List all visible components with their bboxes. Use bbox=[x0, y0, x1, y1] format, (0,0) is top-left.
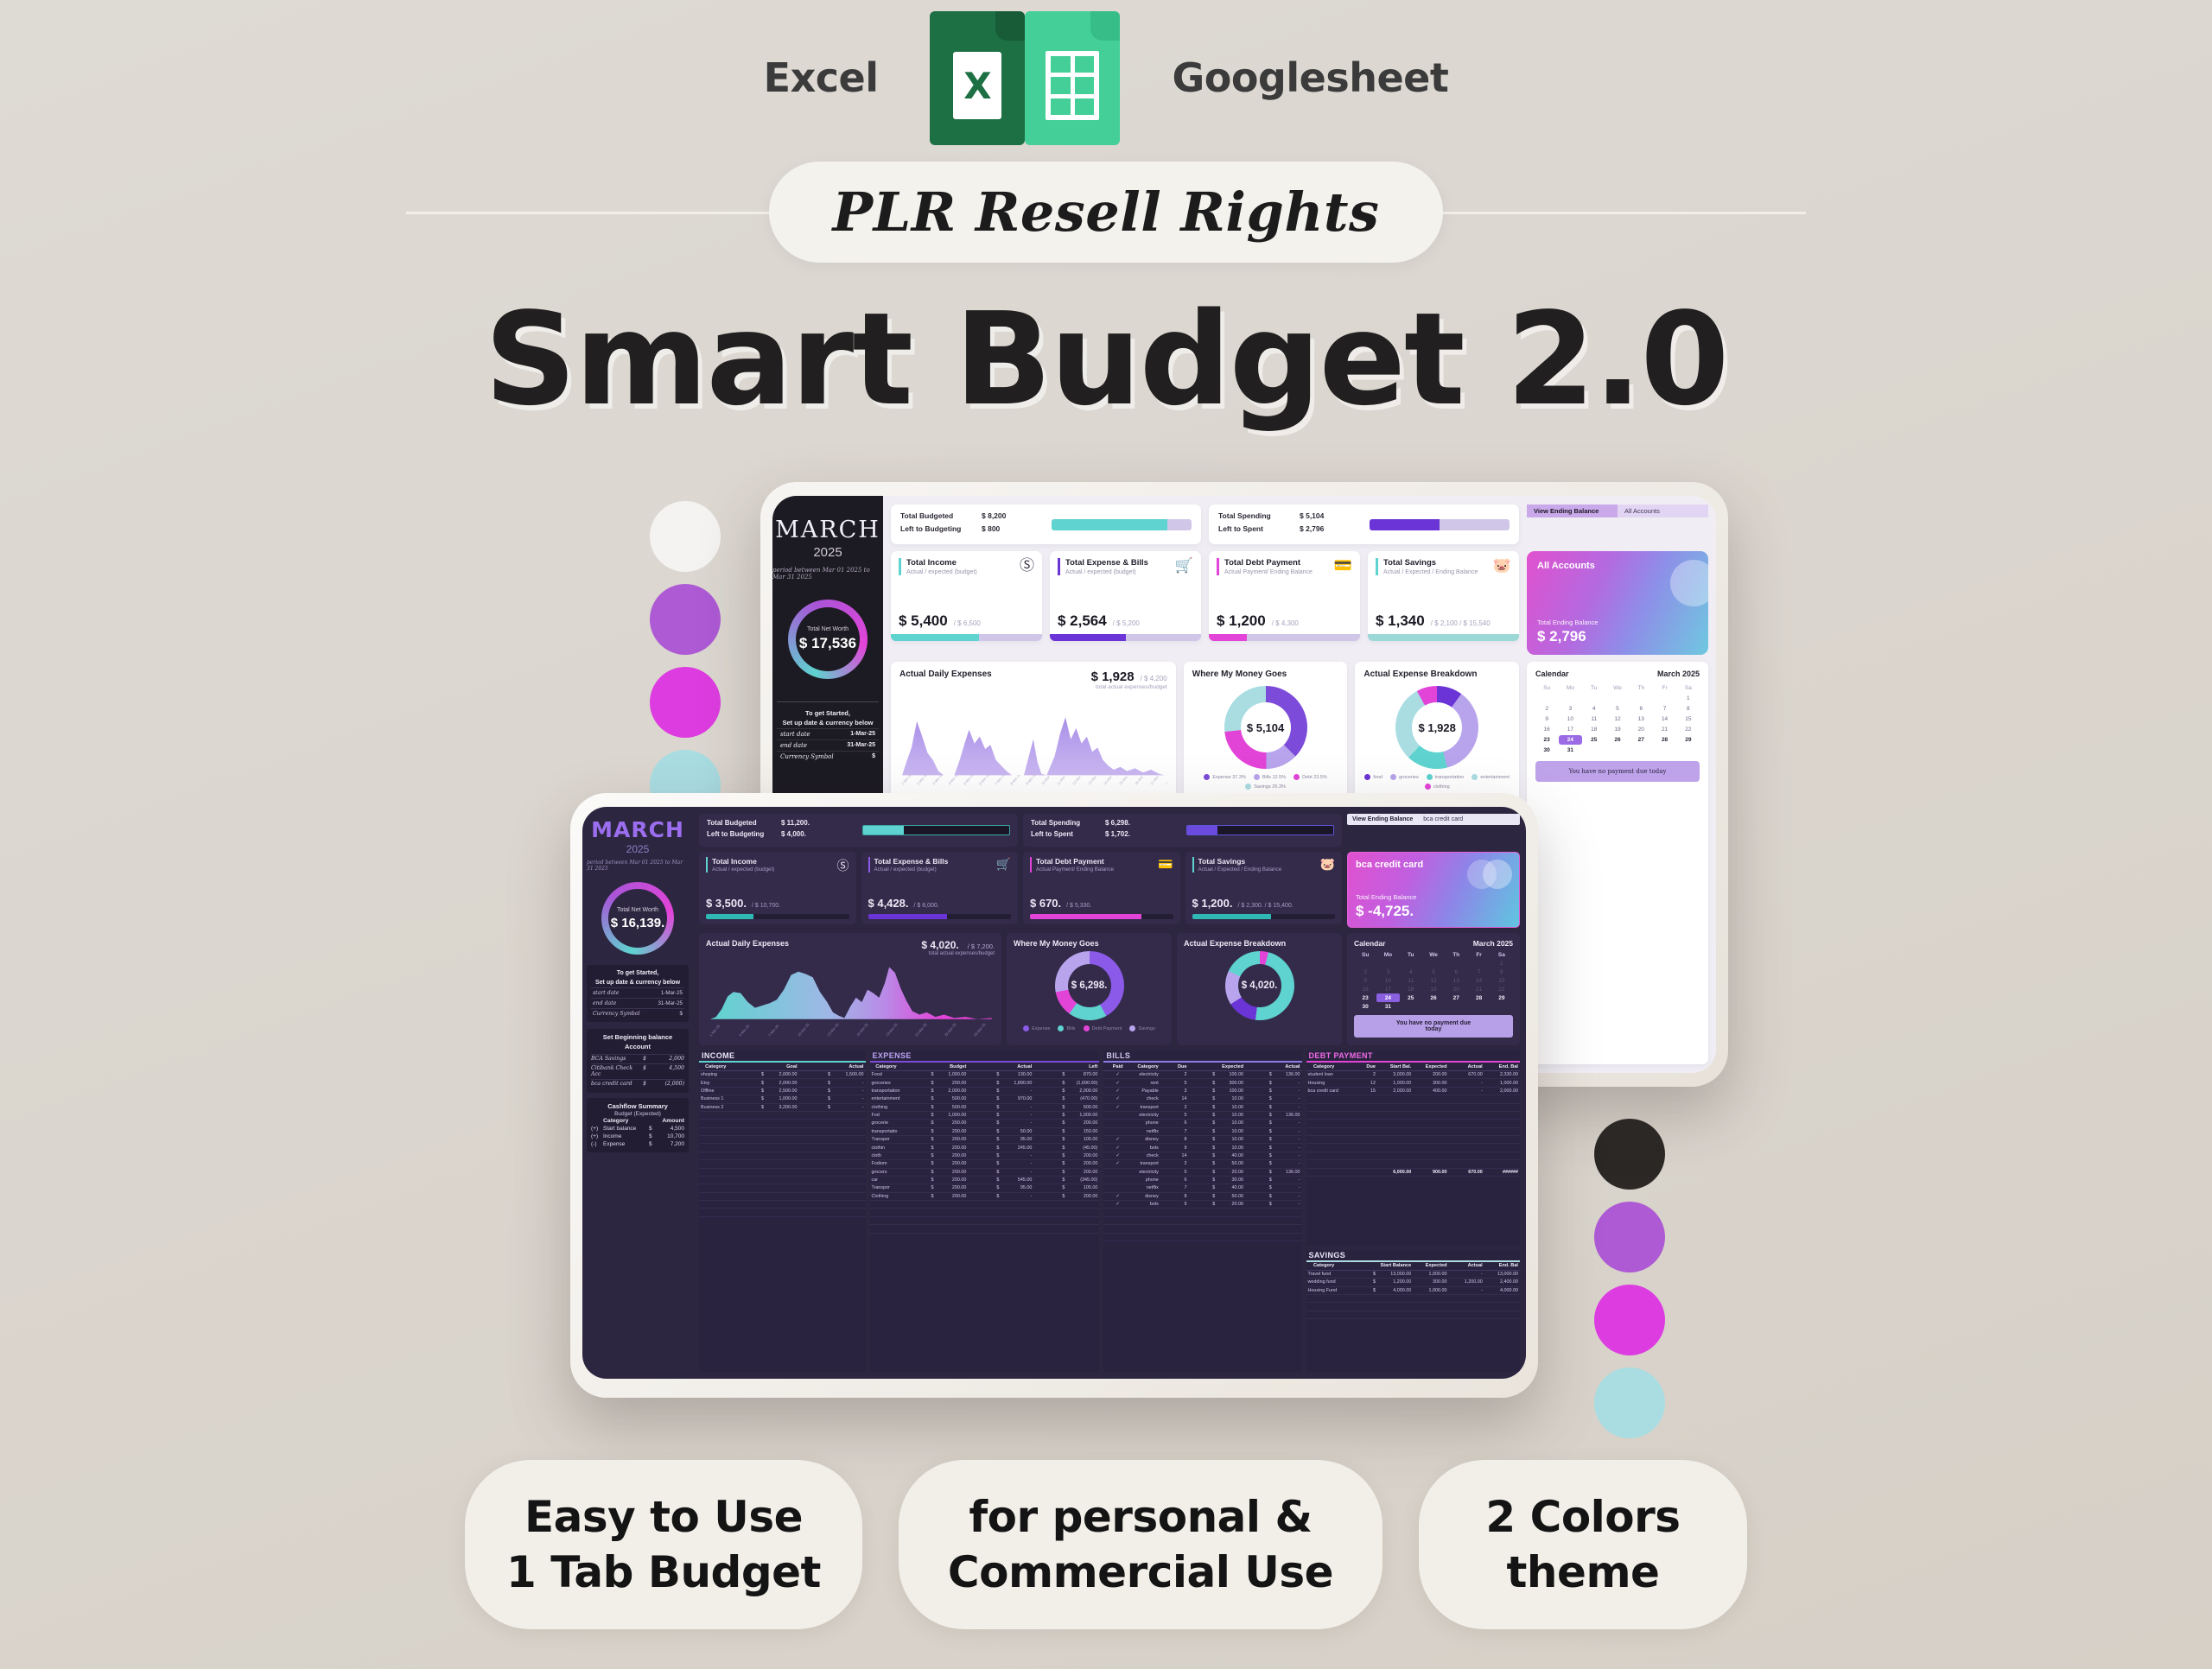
calendar-day-7[interactable]: 7 bbox=[1653, 704, 1675, 714]
table-cell: 1,000.00 bbox=[1377, 1079, 1413, 1087]
table-row[interactable]: ✓disney8$50.00$- bbox=[1103, 1192, 1301, 1200]
table-cell: netflix bbox=[1132, 1184, 1160, 1192]
table-row[interactable]: car$200.00$545.00$(345.00) bbox=[870, 1176, 1100, 1184]
table-row-empty[interactable] bbox=[870, 1225, 1100, 1233]
setup-row[interactable]: Currency Symbol$ bbox=[777, 751, 879, 762]
table-cell: $ bbox=[902, 1127, 935, 1135]
card-subtitle: Actual Payment/ Ending Balance bbox=[1036, 866, 1114, 873]
table-cell: clothin bbox=[870, 1144, 903, 1152]
calendar-blank bbox=[1445, 959, 1467, 968]
calendar-day-17[interactable]: 17 bbox=[1559, 725, 1581, 734]
table-cell: $ bbox=[1189, 1087, 1217, 1095]
table-row-empty[interactable] bbox=[699, 1209, 866, 1216]
table-cell: - bbox=[1274, 1160, 1302, 1168]
table-row-empty[interactable] bbox=[1306, 1136, 1521, 1144]
tab-view-ending-balance[interactable]: View Ending Balance bbox=[1527, 505, 1618, 517]
table-row[interactable]: Food$1,000.00$130.00$870.00 bbox=[870, 1071, 1100, 1079]
calendar-day-28[interactable]: 28 bbox=[1467, 993, 1490, 1002]
table-cell: 1,200.00 bbox=[1449, 1279, 1484, 1286]
dark-kpi-cards: Total IncomeActual / expected (budget)Ⓢ$… bbox=[699, 852, 1342, 928]
table-cell: - bbox=[1001, 1168, 1033, 1176]
kpi-value-1: $ 5,104 bbox=[1300, 511, 1324, 520]
table-row[interactable]: Housing121,000.00300.00-1,000.00 bbox=[1306, 1079, 1521, 1087]
tab-all-accounts[interactable]: All Accounts bbox=[1618, 505, 1708, 517]
calendar-day-27[interactable]: 27 bbox=[1445, 993, 1467, 1002]
table-cell: - bbox=[1274, 1192, 1302, 1200]
legend-item: groceries bbox=[1390, 774, 1419, 780]
calendar-day-15[interactable]: 15 bbox=[1491, 976, 1513, 985]
column-header: Goal bbox=[766, 1063, 799, 1071]
table-row-empty[interactable] bbox=[1103, 1216, 1301, 1224]
calendar-day-19[interactable]: 19 bbox=[1422, 985, 1445, 993]
calendar-day-9[interactable]: 9 bbox=[1535, 714, 1558, 724]
net-worth-ring: Total Net Worth $ 16,139. bbox=[601, 882, 674, 955]
calendar-day-5[interactable]: 5 bbox=[1422, 968, 1445, 976]
calendar-day-25[interactable]: 25 bbox=[1400, 993, 1422, 1002]
calendar-day-31[interactable]: 31 bbox=[1559, 746, 1581, 755]
calendar-day-24[interactable]: 24 bbox=[1376, 993, 1399, 1002]
calendar-day-8[interactable]: 8 bbox=[1677, 704, 1700, 714]
calendar-grid[interactable]: SuMoTuWeThFrSa 1234567891011121314151617… bbox=[1535, 683, 1700, 755]
calendar-day-6[interactable]: 6 bbox=[1630, 704, 1652, 714]
table-row[interactable]: entertainment$500.00$970.00$(470.00) bbox=[870, 1095, 1100, 1103]
table-row[interactable]: Business 1$1,000.00$- bbox=[699, 1095, 866, 1103]
table-row-empty[interactable] bbox=[699, 1136, 866, 1144]
table-cell: $ bbox=[1245, 1079, 1274, 1087]
table-row[interactable]: Clothing$200.00$-$200.00 bbox=[870, 1192, 1100, 1200]
table-cell: - bbox=[1274, 1127, 1302, 1135]
balance-row[interactable]: Citibank Check Acc$4,500 bbox=[591, 1063, 684, 1079]
table-row-empty[interactable] bbox=[1306, 1111, 1521, 1119]
table-row-empty[interactable] bbox=[870, 1209, 1100, 1216]
kpi-value-2: $ 800 bbox=[982, 524, 1000, 533]
table-row[interactable]: netflix7$10.00$- bbox=[1103, 1127, 1301, 1135]
calendar-day-10[interactable]: 10 bbox=[1559, 714, 1581, 724]
table-cell bbox=[968, 1216, 1001, 1224]
table-cell: - bbox=[1449, 1286, 1484, 1294]
kpi-card-1: Total Expense & BillsActual / expected (… bbox=[1050, 551, 1201, 641]
table-cell bbox=[1413, 1127, 1448, 1135]
table-row[interactable]: Business 2$3,200.00$- bbox=[699, 1103, 866, 1111]
table-row[interactable]: wedding fund$1,200.00300.001,200.002,400… bbox=[1306, 1279, 1521, 1286]
calendar-day-10[interactable]: 10 bbox=[1376, 976, 1399, 985]
table-cell bbox=[766, 1136, 799, 1144]
calendar-day-20[interactable]: 20 bbox=[1445, 985, 1467, 993]
calendar-day-28[interactable]: 28 bbox=[1653, 735, 1675, 745]
table-row[interactable]: ✓transport2$50.00$- bbox=[1103, 1160, 1301, 1168]
table-cell: 200.00 bbox=[1413, 1071, 1448, 1079]
legend-item: Expense bbox=[1023, 1025, 1050, 1031]
calendar-day-11[interactable]: 11 bbox=[1583, 714, 1605, 724]
color-swatch-2 bbox=[1594, 1285, 1665, 1355]
table-cell bbox=[935, 1216, 968, 1224]
calendar-day-9[interactable]: 9 bbox=[1354, 976, 1376, 985]
color-swatch-0 bbox=[1594, 1119, 1665, 1190]
table-row[interactable]: Etsy$2,000.00$- bbox=[699, 1079, 866, 1087]
table-row[interactable]: cloth$200.00$-$200.00 bbox=[870, 1152, 1100, 1159]
card-subvalue: / $ 5,200 bbox=[1113, 619, 1140, 627]
calendar-grid[interactable]: SuMoTuWeThFrSa 1234567891011121314151617… bbox=[1354, 950, 1513, 1011]
table-cell: 1,000.00 bbox=[1413, 1270, 1448, 1278]
calendar-month: March 2025 bbox=[1473, 939, 1513, 948]
table-cell bbox=[1377, 1152, 1413, 1159]
tab-view-ending-balance[interactable]: View Ending Balance bbox=[1347, 814, 1418, 825]
calendar-day-3[interactable]: 3 bbox=[1559, 704, 1581, 714]
table-cell: - bbox=[832, 1095, 866, 1103]
calendar-day-8[interactable]: 8 bbox=[1491, 968, 1513, 976]
card-title: Total Debt Payment bbox=[1036, 857, 1114, 866]
calendar-day-24[interactable]: 24 bbox=[1559, 735, 1581, 745]
table-cell bbox=[1160, 1209, 1189, 1216]
calendar-day-5[interactable]: 5 bbox=[1606, 704, 1629, 714]
table-row[interactable]: grocers$200.00$-$200.00 bbox=[870, 1168, 1100, 1176]
table-cell: $ bbox=[799, 1079, 833, 1087]
table-cell: disney bbox=[1132, 1192, 1160, 1200]
table-row[interactable]: ✓bols9$10.00$- bbox=[1103, 1144, 1301, 1152]
table-row[interactable]: groceries$200.00$1,890.00$(1,690.00) bbox=[870, 1079, 1100, 1087]
table-cell bbox=[832, 1127, 866, 1135]
table-row-empty[interactable] bbox=[870, 1201, 1100, 1209]
table-row-empty[interactable] bbox=[1103, 1209, 1301, 1216]
table-cell: 50.00 bbox=[1217, 1160, 1245, 1168]
color-swatches-left bbox=[650, 501, 721, 821]
table-cell: 970.00 bbox=[1001, 1095, 1033, 1103]
table-cell: 5 bbox=[1160, 1079, 1189, 1087]
table-row-empty[interactable] bbox=[870, 1216, 1100, 1224]
table-row-empty[interactable] bbox=[1103, 1233, 1301, 1241]
table-cell: ✓ bbox=[1103, 1095, 1132, 1103]
dollar-coin-icon: Ⓢ bbox=[837, 857, 849, 874]
table-cell: grocerie bbox=[870, 1120, 903, 1127]
table-cell bbox=[1217, 1209, 1245, 1216]
calendar-day-12[interactable]: 12 bbox=[1422, 976, 1445, 985]
table-row-empty[interactable] bbox=[1306, 1103, 1521, 1111]
table-cell: $ bbox=[968, 1160, 1001, 1168]
calendar-day-31[interactable]: 31 bbox=[1376, 1002, 1399, 1011]
table-cell: $ bbox=[902, 1184, 935, 1192]
table-cell: $ bbox=[1245, 1201, 1274, 1209]
table-row[interactable]: Fodiom$200.00$-$200.00 bbox=[870, 1160, 1100, 1168]
table-cell bbox=[1449, 1127, 1484, 1135]
table-cell bbox=[1160, 1225, 1189, 1233]
table-row[interactable]: ✓disney8$10.00$- bbox=[1103, 1136, 1301, 1144]
setup-row[interactable]: start date1-Mar-25 bbox=[777, 728, 879, 739]
table-cell bbox=[1066, 1216, 1099, 1224]
table-row-empty[interactable] bbox=[1306, 1303, 1521, 1310]
badge-line1: for personal & bbox=[899, 1489, 1382, 1545]
table-cell bbox=[699, 1152, 733, 1159]
table-row-empty[interactable] bbox=[699, 1160, 866, 1168]
calendar-day-6[interactable]: 6 bbox=[1445, 968, 1467, 976]
table-cell: clothing bbox=[870, 1103, 903, 1111]
table-row-empty[interactable] bbox=[1306, 1152, 1521, 1159]
table-cell: 12 bbox=[1342, 1079, 1377, 1087]
table-cell: ✓ bbox=[1103, 1152, 1132, 1159]
table-cell: 10.00 bbox=[1217, 1120, 1245, 1127]
table-cell bbox=[935, 1209, 968, 1216]
calendar-day-3[interactable]: 3 bbox=[1376, 968, 1399, 976]
dark-main: Total Budgeted$ 11,200. Left to Budgetin… bbox=[693, 807, 1526, 1379]
table-cell bbox=[1306, 1103, 1342, 1111]
chart-caption: total actual expenses/budget bbox=[1091, 684, 1167, 690]
table-cell bbox=[733, 1184, 766, 1192]
table-cell bbox=[1377, 1144, 1413, 1152]
table-cell bbox=[1274, 1216, 1302, 1224]
table-row-empty[interactable] bbox=[1306, 1095, 1521, 1103]
table-cell: $ bbox=[799, 1095, 833, 1103]
svg-text:12-Mar: 12-Mar bbox=[1071, 775, 1082, 786]
table-row[interactable]: shoping$2,000.00$1,500.00 bbox=[699, 1071, 866, 1079]
table-cell bbox=[1103, 1233, 1132, 1241]
table-row[interactable]: ✓rent5$300.00$- bbox=[1103, 1079, 1301, 1087]
table-row-empty[interactable] bbox=[1306, 1127, 1521, 1135]
table-cell: 500.00 bbox=[935, 1095, 968, 1103]
calendar-day-13[interactable]: 13 bbox=[1445, 976, 1467, 985]
table-cell: 8 bbox=[1160, 1136, 1189, 1144]
calendar-day-21[interactable]: 21 bbox=[1467, 985, 1490, 993]
calendar-day-17[interactable]: 17 bbox=[1376, 985, 1399, 993]
table-row[interactable]: student loan23,000.00200.00670.002,330.0… bbox=[1306, 1071, 1521, 1079]
table-row-empty[interactable] bbox=[699, 1184, 866, 1192]
setup-row[interactable]: end date31-Mar-25 bbox=[777, 739, 879, 751]
table-cell bbox=[766, 1160, 799, 1168]
table-cell bbox=[935, 1225, 968, 1233]
tab-account-select[interactable]: bca credit card bbox=[1418, 814, 1468, 825]
table-cell bbox=[1033, 1216, 1066, 1224]
table-row[interactable]: phone6$30.00$- bbox=[1103, 1176, 1301, 1184]
table-row-empty[interactable] bbox=[1103, 1225, 1301, 1233]
calendar-day-15[interactable]: 15 bbox=[1677, 714, 1700, 724]
table-row-empty[interactable] bbox=[699, 1152, 866, 1159]
table-row[interactable]: clothin$200.00$245.00$(45.00) bbox=[870, 1144, 1100, 1152]
table-cell: $ bbox=[968, 1071, 1001, 1079]
table-row-empty[interactable] bbox=[1306, 1310, 1521, 1318]
calendar-day-19[interactable]: 19 bbox=[1606, 725, 1629, 734]
calendar-day-16[interactable]: 16 bbox=[1354, 985, 1376, 993]
table-row[interactable]: bca credit card152,000.00400.00-2,000.00 bbox=[1306, 1087, 1521, 1095]
table-row[interactable]: clothing$500.00$-$500.00 bbox=[870, 1103, 1100, 1111]
table-cell bbox=[1377, 1103, 1413, 1111]
table-row-empty[interactable] bbox=[699, 1176, 866, 1184]
x-axis-labels: 1-Mar-252-Mar-25 3-Mar-254-Mar-25 5-Mar-… bbox=[899, 775, 1167, 789]
table-cell: $ bbox=[1033, 1103, 1066, 1111]
table-cell: 13,000.00 bbox=[1484, 1270, 1520, 1278]
calendar-day-18[interactable]: 18 bbox=[1583, 725, 1605, 734]
table-cell bbox=[1449, 1144, 1484, 1152]
table-cell bbox=[699, 1127, 733, 1135]
badge-easy-to-use: Easy to Use 1 Tab Budget bbox=[465, 1460, 862, 1629]
table-row[interactable]: ✓bols9$20.00$- bbox=[1103, 1201, 1301, 1209]
table-cell bbox=[1132, 1225, 1160, 1233]
table-cell: 10.00 bbox=[1217, 1144, 1245, 1152]
calendar-day-4[interactable]: 4 bbox=[1583, 704, 1605, 714]
calendar-day-27[interactable]: 27 bbox=[1630, 735, 1652, 745]
table-row-empty[interactable] bbox=[1306, 1160, 1521, 1168]
table-cell bbox=[870, 1201, 903, 1209]
calendar-day-1[interactable]: 1 bbox=[1677, 694, 1700, 703]
calendar-day-1[interactable]: 1 bbox=[1491, 959, 1513, 968]
net-worth-value: $ 17,536 bbox=[799, 635, 856, 652]
legend-dot bbox=[1390, 774, 1396, 780]
calendar-day-22[interactable]: 22 bbox=[1677, 725, 1700, 734]
table-cell: $ bbox=[1033, 1127, 1066, 1135]
table-cell: 200.00 bbox=[935, 1079, 968, 1087]
calendar-day-4[interactable]: 4 bbox=[1400, 968, 1422, 976]
table-row[interactable]: netflix7$40.00$- bbox=[1103, 1184, 1301, 1192]
calendar-day-2[interactable]: 2 bbox=[1535, 704, 1558, 714]
table-row-empty[interactable] bbox=[699, 1168, 866, 1176]
table-row-empty[interactable] bbox=[699, 1201, 866, 1209]
table-row[interactable]: Offline$2,500.00$- bbox=[699, 1087, 866, 1095]
table-cell bbox=[699, 1192, 733, 1200]
table-cell: ✓ bbox=[1103, 1136, 1132, 1144]
dark-dashboard: MARCH 2025 period between Mar 01 2025 to… bbox=[582, 807, 1526, 1379]
table-row-empty[interactable] bbox=[699, 1111, 866, 1119]
calendar-day-30[interactable]: 30 bbox=[1535, 746, 1558, 755]
calendar-day-12[interactable]: 12 bbox=[1606, 714, 1629, 724]
table-cell bbox=[766, 1192, 799, 1200]
calendar-day-26[interactable]: 26 bbox=[1606, 735, 1629, 745]
calendar-day-13[interactable]: 13 bbox=[1630, 714, 1652, 724]
calendar-day-26[interactable]: 26 bbox=[1422, 993, 1445, 1002]
calendar-day-7[interactable]: 7 bbox=[1467, 968, 1490, 976]
table-row-empty[interactable] bbox=[1306, 1120, 1521, 1127]
table-cell bbox=[1413, 1111, 1448, 1119]
table-cell: - bbox=[832, 1103, 866, 1111]
table-cell bbox=[1413, 1095, 1448, 1103]
table-row-empty[interactable] bbox=[699, 1144, 866, 1152]
calendar-day-23[interactable]: 23 bbox=[1354, 993, 1376, 1002]
table-row-empty[interactable] bbox=[699, 1120, 866, 1127]
calendar-day-14[interactable]: 14 bbox=[1653, 714, 1675, 724]
calendar-day-20[interactable]: 20 bbox=[1630, 725, 1652, 734]
table-cell bbox=[1449, 1160, 1484, 1168]
table-cell bbox=[1066, 1225, 1099, 1233]
table-row[interactable]: transportation$2,000.00$-$2,000.00 bbox=[870, 1087, 1100, 1095]
setup-row[interactable]: Currency Symbol$ bbox=[591, 1008, 684, 1019]
light-kpi-wide-row: Total Budgeted$ 8,200 Left to Budgeting$… bbox=[891, 505, 1708, 544]
beginning-balance-title: Set Beginning balance bbox=[591, 1033, 684, 1043]
table-row[interactable]: transportatio$200.00$50.00$150.00 bbox=[870, 1127, 1100, 1135]
table-cell: 4,000.00 bbox=[1484, 1286, 1520, 1294]
table-cell: (1,690.00) bbox=[1066, 1079, 1099, 1087]
balance-row[interactable]: bca credit card$(2,000) bbox=[591, 1079, 684, 1088]
table-row[interactable]: grocerie$200.00$-$200.00 bbox=[870, 1120, 1100, 1127]
table-cell: 200.00 bbox=[935, 1144, 968, 1152]
table-cell: 200.00 bbox=[1066, 1168, 1099, 1176]
table-cell: ✓ bbox=[1103, 1071, 1132, 1079]
table-row[interactable]: electricity5$10.00$136.00 bbox=[1103, 1111, 1301, 1119]
svg-text:18-Mar: 18-Mar bbox=[1165, 775, 1167, 786]
table-cell: $ bbox=[902, 1144, 935, 1152]
account-card: bca credit card Total Ending Balance $ -… bbox=[1347, 852, 1520, 928]
chart-title: Where My Money Goes bbox=[1014, 939, 1165, 948]
table-row[interactable]: ✓check14$40.00$- bbox=[1103, 1152, 1301, 1159]
kpi-value-2: $ 4,000. bbox=[781, 830, 806, 838]
table-cell: rent bbox=[1132, 1079, 1160, 1087]
table-cell: $ bbox=[902, 1079, 935, 1087]
credit-card-icon: 💳 bbox=[1158, 857, 1173, 872]
table-row[interactable]: ✓transport2$10.00$- bbox=[1103, 1103, 1301, 1111]
setup-row[interactable]: start date1-Mar-25 bbox=[591, 987, 684, 998]
calendar-day-30[interactable]: 30 bbox=[1354, 1002, 1376, 1011]
calendar-day-11[interactable]: 11 bbox=[1400, 976, 1422, 985]
table-cell: electricity bbox=[1132, 1168, 1160, 1176]
table-cell: $ bbox=[799, 1087, 833, 1095]
table-cell bbox=[832, 1160, 866, 1168]
table-row[interactable]: Transpor$200.00$95.00$105.00 bbox=[870, 1136, 1100, 1144]
calendar-day-21[interactable]: 21 bbox=[1653, 725, 1675, 734]
calendar-day-29[interactable]: 29 bbox=[1677, 735, 1700, 745]
calendar-day-2[interactable]: 2 bbox=[1354, 968, 1376, 976]
table-row-empty[interactable] bbox=[1306, 1294, 1521, 1302]
table-cell bbox=[1103, 1111, 1132, 1119]
table-row[interactable]: phone6$10.00$- bbox=[1103, 1120, 1301, 1127]
svg-text:1-Mar-25: 1-Mar-25 bbox=[709, 1023, 721, 1037]
calendar-blank bbox=[1467, 959, 1490, 968]
table-cell: shoping bbox=[699, 1071, 733, 1079]
table-cell: 1,000.00 bbox=[935, 1071, 968, 1079]
table-cell bbox=[799, 1201, 833, 1209]
dark-dashboard-screen: MARCH 2025 period between Mar 01 2025 to… bbox=[582, 807, 1526, 1379]
table-cell bbox=[1342, 1103, 1377, 1111]
calendar-dow: Fr bbox=[1467, 950, 1490, 959]
setup-row[interactable]: end date31-Mar-25 bbox=[591, 998, 684, 1008]
accounts-tabs: View Ending Balance All Accounts bbox=[1527, 505, 1708, 544]
where-money-goes-chart: Where My Money Goes $ 6,298. ExpenseBill… bbox=[1007, 933, 1172, 1045]
table-row[interactable]: ✓Payable3$100.00$- bbox=[1103, 1087, 1301, 1095]
calendar-day-16[interactable]: 16 bbox=[1535, 725, 1558, 734]
calendar-day-25[interactable]: 25 bbox=[1583, 735, 1605, 745]
table-row[interactable]: Fod$1,000.00$-$1,000.00 bbox=[870, 1111, 1100, 1119]
table-row[interactable]: Transpor$200.00$95.00$105.00 bbox=[870, 1184, 1100, 1192]
table-cell: $ bbox=[1189, 1079, 1217, 1087]
table-row[interactable]: Housing Fund$4,000.001,000.00-4,000.00 bbox=[1306, 1286, 1521, 1294]
legend-label: Savings bbox=[1138, 1026, 1155, 1031]
table-cell bbox=[1103, 1120, 1132, 1127]
table-row-empty[interactable] bbox=[699, 1192, 866, 1200]
table-cell: 9 bbox=[1160, 1144, 1189, 1152]
table-cell: $ bbox=[1033, 1087, 1066, 1095]
calendar-blank bbox=[1400, 959, 1422, 968]
table-cell bbox=[1306, 1168, 1342, 1176]
table-cell bbox=[1413, 1152, 1448, 1159]
table-row[interactable]: electricity5$20.00$136.00 bbox=[1103, 1168, 1301, 1176]
get-started-panel: To get Started, Set up date & currency b… bbox=[587, 965, 689, 1022]
table-totals-row: 6,000.00900.00670.00###### bbox=[1306, 1168, 1521, 1176]
balance-row[interactable]: BCA Savings$2,000 bbox=[591, 1054, 684, 1063]
table-cell bbox=[1160, 1216, 1189, 1224]
table-row[interactable]: Travel fund$13,000.001,000.00-13,000.00 bbox=[1306, 1270, 1521, 1278]
table-row-empty[interactable] bbox=[699, 1127, 866, 1135]
calendar-day-18[interactable]: 18 bbox=[1400, 985, 1422, 993]
calendar-day-22[interactable]: 22 bbox=[1491, 985, 1513, 993]
calendar-blank bbox=[1354, 959, 1376, 968]
table-cell bbox=[1001, 1216, 1033, 1224]
table-cell: Business 2 bbox=[699, 1103, 733, 1111]
table-row[interactable]: ✓electricity2$100.00$136.00 bbox=[1103, 1071, 1301, 1079]
table-row[interactable]: ✓check14$10.00$- bbox=[1103, 1095, 1301, 1103]
calendar-dow: Tu bbox=[1583, 683, 1605, 693]
table-cell: 50.00 bbox=[1001, 1127, 1033, 1135]
table-cell: - bbox=[1001, 1087, 1033, 1095]
calendar-day-23[interactable]: 23 bbox=[1535, 735, 1558, 745]
calendar-day-29[interactable]: 29 bbox=[1491, 993, 1513, 1002]
calendar-day-14[interactable]: 14 bbox=[1467, 976, 1490, 985]
net-worth-ring: Total Net Worth $ 17,536 bbox=[788, 600, 868, 679]
table-cell bbox=[1377, 1303, 1413, 1310]
table-row-empty[interactable] bbox=[1306, 1144, 1521, 1152]
